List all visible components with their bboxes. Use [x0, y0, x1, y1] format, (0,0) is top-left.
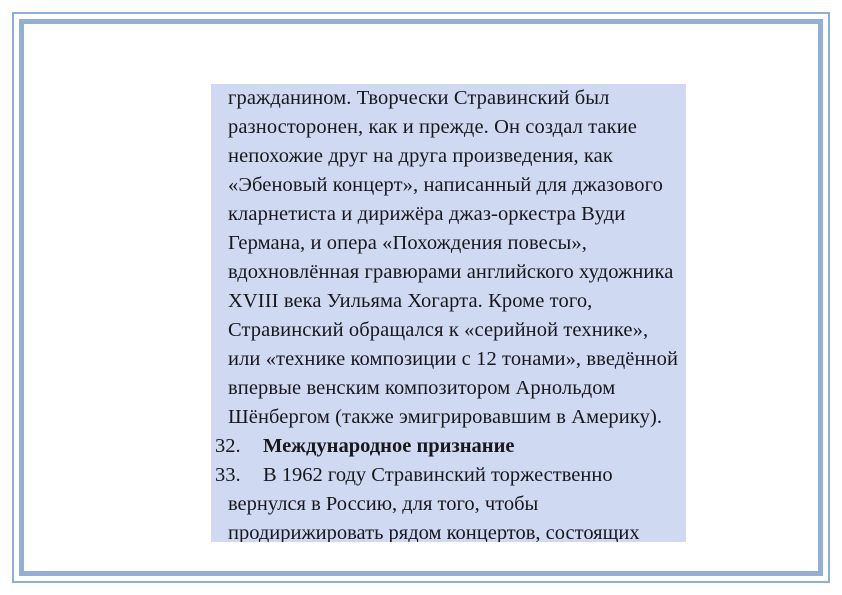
- list-item-number: 32.: [213, 432, 263, 461]
- list-item-continuation-line: вернулся в Россию, для того, чтобы: [211, 490, 686, 519]
- body-paragraph: гражданином. Творчески Стравинский был р…: [211, 84, 686, 432]
- list-item-continuation-line: продирижировать рядом концертов, состоящ…: [211, 519, 686, 542]
- list-item: 32. Международное признание: [211, 432, 686, 461]
- list-item: 33. В 1962 году Стравинский торжественно: [211, 461, 686, 490]
- slide-canvas: гражданином. Творчески Стравинский был р…: [0, 0, 842, 595]
- slide-text-body: гражданином. Творчески Стравинский был р…: [211, 84, 686, 542]
- list-item-label: В 1962 году Стравинский торжественно: [263, 461, 682, 490]
- list-item-number: 33.: [213, 461, 263, 490]
- list-item-label: Международное признание: [263, 432, 682, 461]
